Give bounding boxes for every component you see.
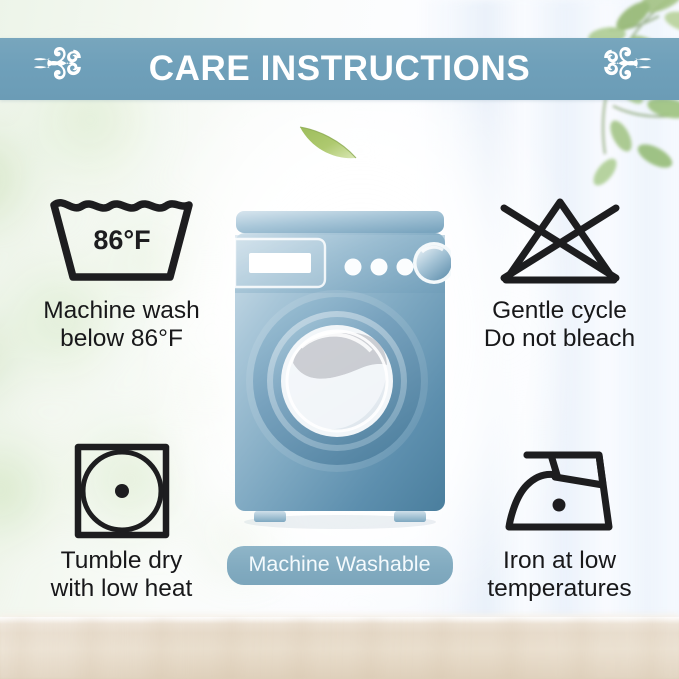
wash-temperature-value: 86°F [93, 225, 150, 255]
triangle-crossed-out-icon-wrap [452, 193, 667, 289]
machine-foot [254, 511, 286, 522]
page-title: CARE INSTRUCTIONS [149, 49, 531, 89]
symbol-label-tumble-dry: Tumble dry with low heat [14, 547, 229, 603]
tumble-dry-low-icon [72, 441, 172, 541]
indicator-light [397, 259, 414, 276]
symbol-label-iron-low: Iron at low temperatures [452, 547, 667, 603]
symbol-machine-wash: 86°F Machine wash below 86°F [14, 193, 229, 353]
tumble-dry-low-icon-wrap [14, 443, 229, 539]
symbol-tumble-dry: Tumble dry with low heat [14, 443, 229, 603]
symbol-iron-low: Iron at low temperatures [452, 443, 667, 603]
wash-tub-icon: 86°F [46, 195, 198, 287]
display-screen [249, 253, 311, 273]
triangle-crossed-out-icon [494, 194, 626, 288]
indicator-light [371, 259, 388, 276]
indicator-light [345, 259, 362, 276]
fleur-de-lis-ornament-icon [593, 46, 657, 92]
iron-one-dot-icon [499, 447, 621, 535]
fleur-de-lis-ornament-icon [28, 46, 92, 92]
symbol-label-machine-wash: Machine wash below 86°F [14, 297, 229, 353]
floating-leaf-icon [296, 120, 360, 164]
wash-tub-icon-wrap: 86°F [14, 193, 229, 289]
symbol-label-do-not-bleach: Gentle cycle Do not bleach [452, 297, 667, 353]
symbol-do-not-bleach: Gentle cycle Do not bleach [452, 193, 667, 353]
iron-one-dot-icon-wrap [452, 443, 667, 539]
washing-machine-illustration [229, 211, 451, 529]
header-banner: CARE INSTRUCTIONS [0, 38, 679, 100]
wooden-table-grain [0, 617, 679, 679]
care-instructions-graphic: CARE INSTRUCTIONS 86°F Machine wash belo… [0, 0, 679, 679]
machine-foot [394, 511, 426, 522]
machine-washable-badge: Machine Washable [226, 546, 452, 585]
